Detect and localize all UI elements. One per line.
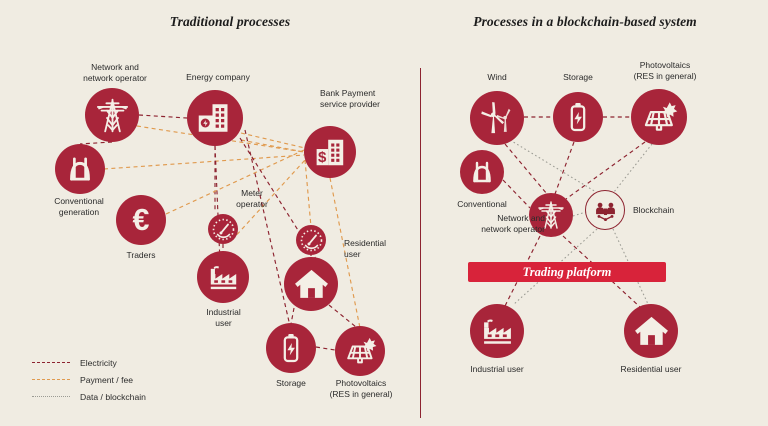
node-t-storage[interactable] [266, 323, 316, 373]
meter-icon [209, 215, 238, 244]
edge-electricity [215, 146, 220, 262]
legend-item-payment: Payment / fee [32, 371, 212, 388]
legend: Electricity Payment / fee Data / blockch… [32, 354, 212, 405]
edge-electricity [329, 305, 356, 327]
edge-payment [241, 140, 304, 152]
edge-payment [104, 155, 304, 169]
node-b-residential-user[interactable] [624, 304, 678, 358]
edge-electricity [555, 142, 574, 194]
node-b-conventional[interactable] [460, 150, 504, 194]
edge-data [573, 212, 586, 216]
edge-data [510, 140, 596, 192]
panel-divider [420, 68, 421, 418]
blockchain-people-icon [591, 196, 620, 225]
svg-text:$: $ [317, 148, 326, 165]
edge-data [614, 144, 652, 192]
trading-platform-bar[interactable]: Trading platform [468, 262, 666, 282]
node-b-photovoltaics[interactable] [631, 89, 687, 145]
legend-label-data: Data / blockchain [80, 392, 146, 402]
label-t-storage: Storage [259, 378, 323, 389]
house-icon [292, 265, 331, 304]
label-t-photovoltaics: Photovoltaics (RES in general) [319, 378, 403, 399]
meter-icon [297, 226, 326, 255]
label-b-storage: Storage [547, 72, 609, 83]
cooling-tower-icon [62, 151, 98, 187]
node-b-storage[interactable] [553, 92, 603, 142]
label-b-wind: Wind [467, 72, 527, 83]
building-dollar-icon: $ [312, 134, 349, 171]
factory-icon [205, 259, 242, 296]
panel-title-blockchain: Processes in a blockchain-based system [440, 14, 730, 30]
legend-label-electricity: Electricity [80, 358, 117, 368]
label-t-network-operator: Network and network operator [70, 62, 160, 83]
label-t-industrial-user: Industrial user [186, 307, 261, 328]
node-t-residential-user[interactable] [284, 257, 338, 311]
trading-platform-label: Trading platform [523, 265, 612, 280]
battery-icon [273, 330, 309, 366]
node-t-meter-operator[interactable] [208, 214, 238, 244]
svg-text:€: € [133, 204, 150, 237]
node-t-conventional[interactable] [55, 144, 105, 194]
label-t-residential-user: Residential user [344, 238, 414, 259]
label-b-conventional: Conventional [442, 199, 522, 210]
edge-electricity [291, 308, 294, 324]
node-t-meter-2[interactable] [296, 225, 326, 255]
solar-icon [639, 97, 679, 137]
node-b-industrial-user[interactable] [470, 304, 524, 358]
label-b-network-operator: Network and network operator [467, 213, 545, 234]
battery-icon [560, 99, 596, 135]
edge-payment [305, 160, 311, 227]
panel-title-traditional: Traditional processes [120, 14, 340, 30]
label-t-traders: Traders [106, 250, 176, 261]
node-b-blockchain[interactable] [585, 190, 625, 230]
pylon-icon [93, 96, 132, 135]
label-b-residential-user: Residential user [605, 364, 697, 375]
node-t-energy-company[interactable] [187, 90, 243, 146]
node-t-traders[interactable]: € [116, 195, 166, 245]
wind-turbine-icon [478, 99, 517, 138]
cooling-tower-icon [466, 156, 498, 188]
legend-swatch-electricity [32, 362, 70, 363]
label-b-industrial-user: Industrial user [456, 364, 538, 375]
factory-icon [478, 312, 517, 351]
node-t-bank[interactable]: $ [304, 126, 356, 178]
edge-electricity [505, 144, 547, 194]
node-b-wind[interactable] [470, 91, 524, 145]
legend-swatch-data [32, 396, 70, 397]
label-t-meter-operator: Meter operator [222, 188, 282, 209]
diagram-canvas: Traditional processes Processes in a blo… [0, 0, 768, 426]
house-icon [632, 312, 671, 351]
label-t-bank: Bank Payment service provider [320, 88, 415, 109]
edge-electricity [316, 347, 335, 350]
label-t-energy-company: Energy company [163, 72, 273, 83]
legend-item-data: Data / blockchain [32, 388, 212, 405]
label-b-photovoltaics: Photovoltaics (RES in general) [620, 60, 710, 81]
euro-icon: € [123, 202, 159, 238]
edge-electricity [245, 130, 290, 326]
node-t-photovoltaics[interactable] [335, 326, 385, 376]
legend-swatch-payment [32, 379, 70, 380]
node-t-network-operator[interactable] [85, 88, 139, 142]
edge-electricity [139, 115, 187, 118]
edge-payment [241, 133, 305, 148]
legend-item-electricity: Electricity [32, 354, 212, 371]
building-power-icon [195, 98, 235, 138]
legend-label-payment: Payment / fee [80, 375, 133, 385]
label-b-blockchain: Blockchain [633, 205, 703, 216]
node-t-industrial-user[interactable] [197, 251, 249, 303]
solar-icon [342, 333, 378, 369]
